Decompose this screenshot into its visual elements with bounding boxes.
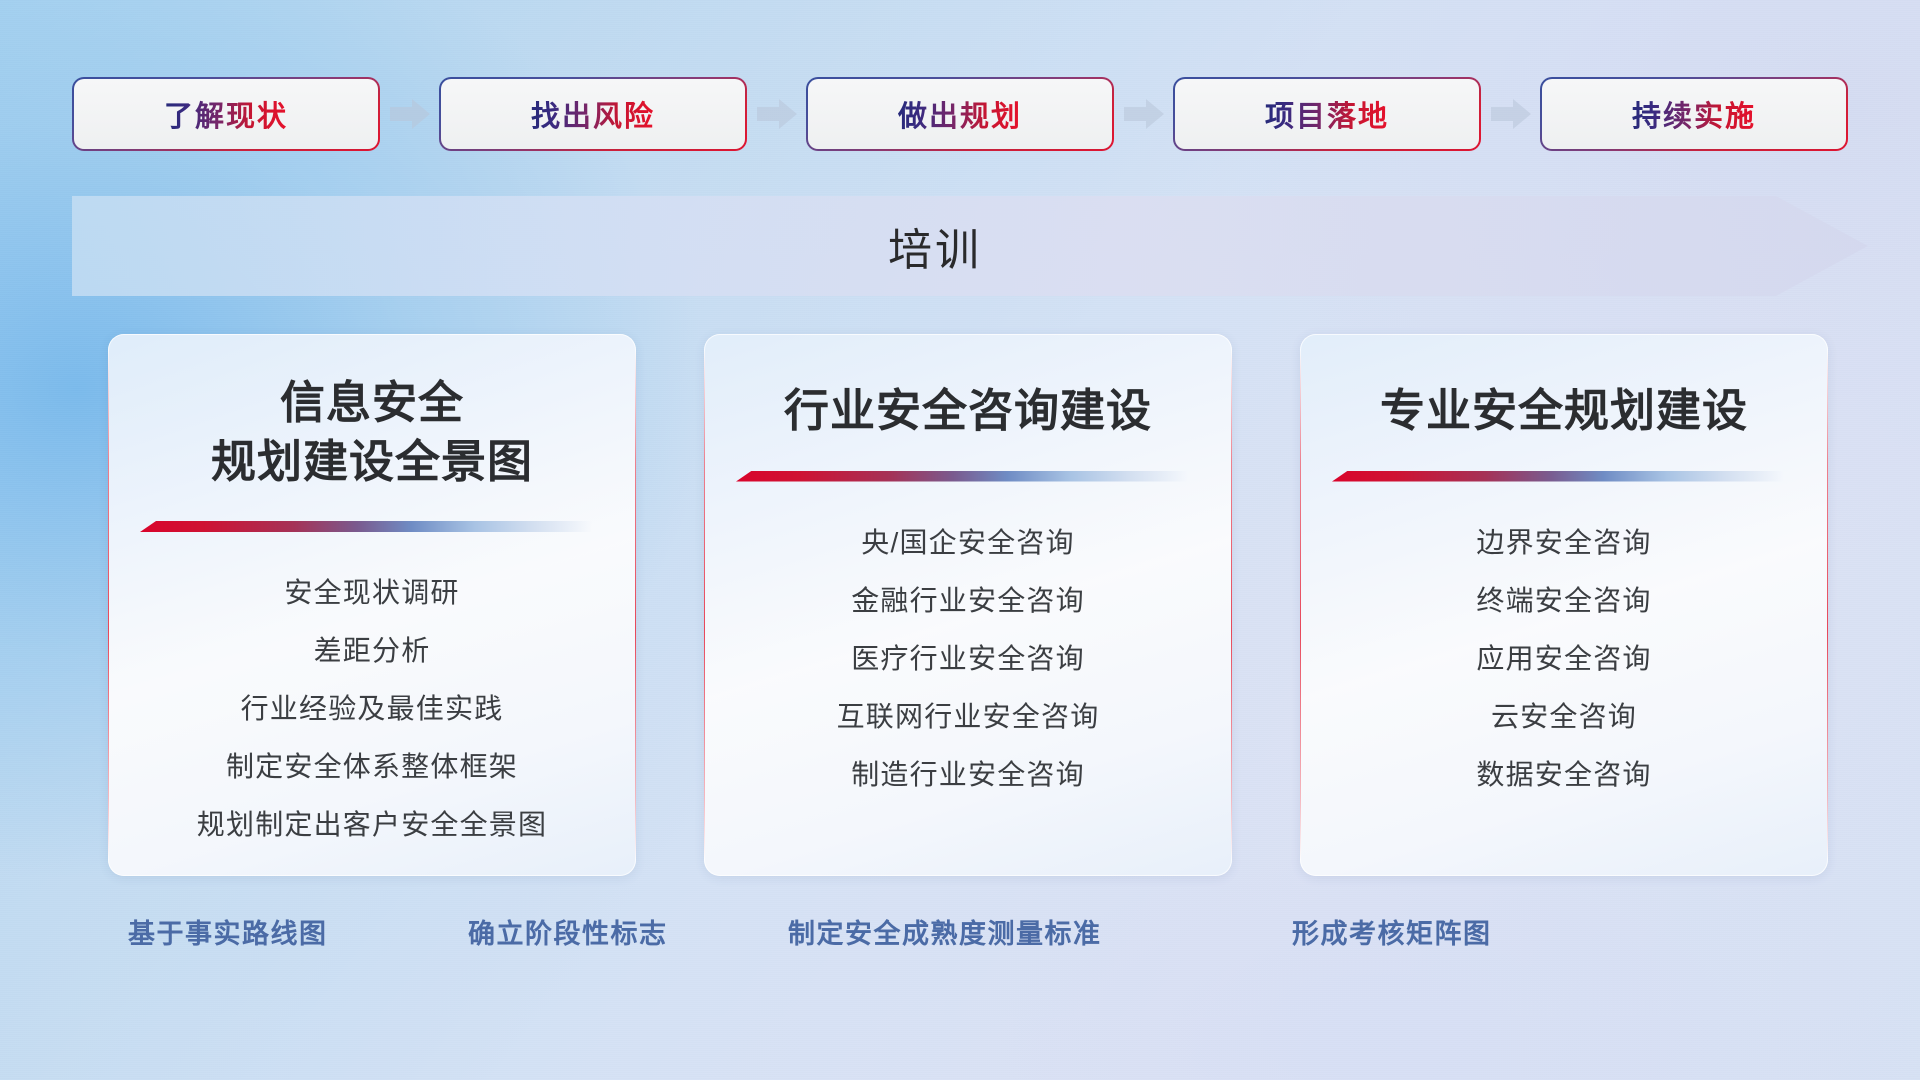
banner-title: 培训 — [72, 196, 1868, 296]
process-step-2-label: 找出风险 — [531, 93, 655, 135]
caption-4: 形成考核矩阵图 — [1292, 912, 1492, 951]
card-divider — [140, 521, 592, 533]
list-item: 应用安全咨询 — [1326, 645, 1802, 673]
list-item: 边界安全咨询 — [1326, 529, 1802, 557]
process-step-2[interactable]: 找出风险 — [441, 79, 745, 149]
list-item: 云安全咨询 — [1326, 703, 1802, 731]
list-item: 差距分析 — [134, 637, 610, 665]
card-professional-security-planning[interactable]: 专业安全规划建设 边界安全咨询 终端安全咨询 应用安全咨询 云安全咨询 数据安全… — [1300, 334, 1828, 876]
card-title-line1: 行业安全咨询建设 — [784, 385, 1152, 436]
list-item: 医疗行业安全咨询 — [730, 645, 1206, 673]
list-item: 央/国企安全咨询 — [730, 529, 1206, 557]
process-step-1-label: 了解现状 — [164, 93, 288, 135]
list-item: 制造行业安全咨询 — [730, 761, 1206, 789]
list-item: 终端安全咨询 — [1326, 587, 1802, 615]
training-banner: 培训 — [72, 196, 1868, 296]
process-step-4[interactable]: 项目落地 — [1175, 79, 1479, 149]
caption-1: 基于事实路线图 — [128, 912, 328, 951]
list-item: 安全现状调研 — [134, 579, 610, 607]
list-item: 制定安全体系整体框架 — [134, 753, 610, 781]
card-group: 信息安全 规划建设全景图 安全现状调研 差距分析 行业经验及最佳实践 制定安全体… — [108, 334, 1828, 876]
arrow-right-icon — [388, 97, 432, 131]
card-title: 专业安全规划建设 — [1300, 334, 1828, 441]
card-divider — [736, 471, 1188, 483]
card-information-security-blueprint[interactable]: 信息安全 规划建设全景图 安全现状调研 差距分析 行业经验及最佳实践 制定安全体… — [108, 334, 636, 876]
list-item: 互联网行业安全咨询 — [730, 703, 1206, 731]
slide-canvas: 了解现状 找出风险 做出规划 项目落地 — [0, 0, 1920, 1080]
process-step-5[interactable]: 持续实施 — [1542, 79, 1846, 149]
caption-3: 制定安全成熟度测量标准 — [788, 912, 1102, 951]
arrow-right-icon — [1122, 97, 1166, 131]
list-item: 数据安全咨询 — [1326, 761, 1802, 789]
arrow-right-icon — [755, 97, 799, 131]
card-title-line1: 专业安全规划建设 — [1380, 385, 1748, 436]
process-flow: 了解现状 找出风险 做出规划 项目落地 — [74, 78, 1846, 150]
card-item-list: 安全现状调研 差距分析 行业经验及最佳实践 制定安全体系整体框架 规划制定出客户… — [108, 533, 636, 839]
list-item: 规划制定出客户安全全景图 — [134, 811, 610, 839]
card-item-list: 央/国企安全咨询 金融行业安全咨询 医疗行业安全咨询 互联网行业安全咨询 制造行… — [704, 483, 1232, 789]
card-title-line1: 信息安全 — [280, 377, 464, 428]
list-item: 行业经验及最佳实践 — [134, 695, 610, 723]
card-item-list: 边界安全咨询 终端安全咨询 应用安全咨询 云安全咨询 数据安全咨询 — [1300, 483, 1828, 789]
process-step-1[interactable]: 了解现状 — [74, 79, 378, 149]
caption-row: 基于事实路线图 确立阶段性标志 制定安全成熟度测量标准 形成考核矩阵图 — [0, 912, 1920, 960]
process-step-4-label: 项目落地 — [1265, 93, 1389, 135]
process-step-3-label: 做出规划 — [898, 93, 1022, 135]
arrow-right-icon — [1489, 97, 1533, 131]
process-step-5-label: 持续实施 — [1632, 93, 1756, 135]
caption-2: 确立阶段性标志 — [468, 912, 668, 951]
process-step-3[interactable]: 做出规划 — [808, 79, 1112, 149]
card-title: 行业安全咨询建设 — [704, 334, 1232, 441]
card-industry-security-consulting[interactable]: 行业安全咨询建设 央/国企安全咨询 金融行业安全咨询 医疗行业安全咨询 互联网行… — [704, 334, 1232, 876]
card-title: 信息安全 规划建设全景图 — [108, 334, 636, 491]
card-divider — [1332, 471, 1784, 483]
list-item: 金融行业安全咨询 — [730, 587, 1206, 615]
card-title-line2: 规划建设全景图 — [211, 436, 533, 487]
